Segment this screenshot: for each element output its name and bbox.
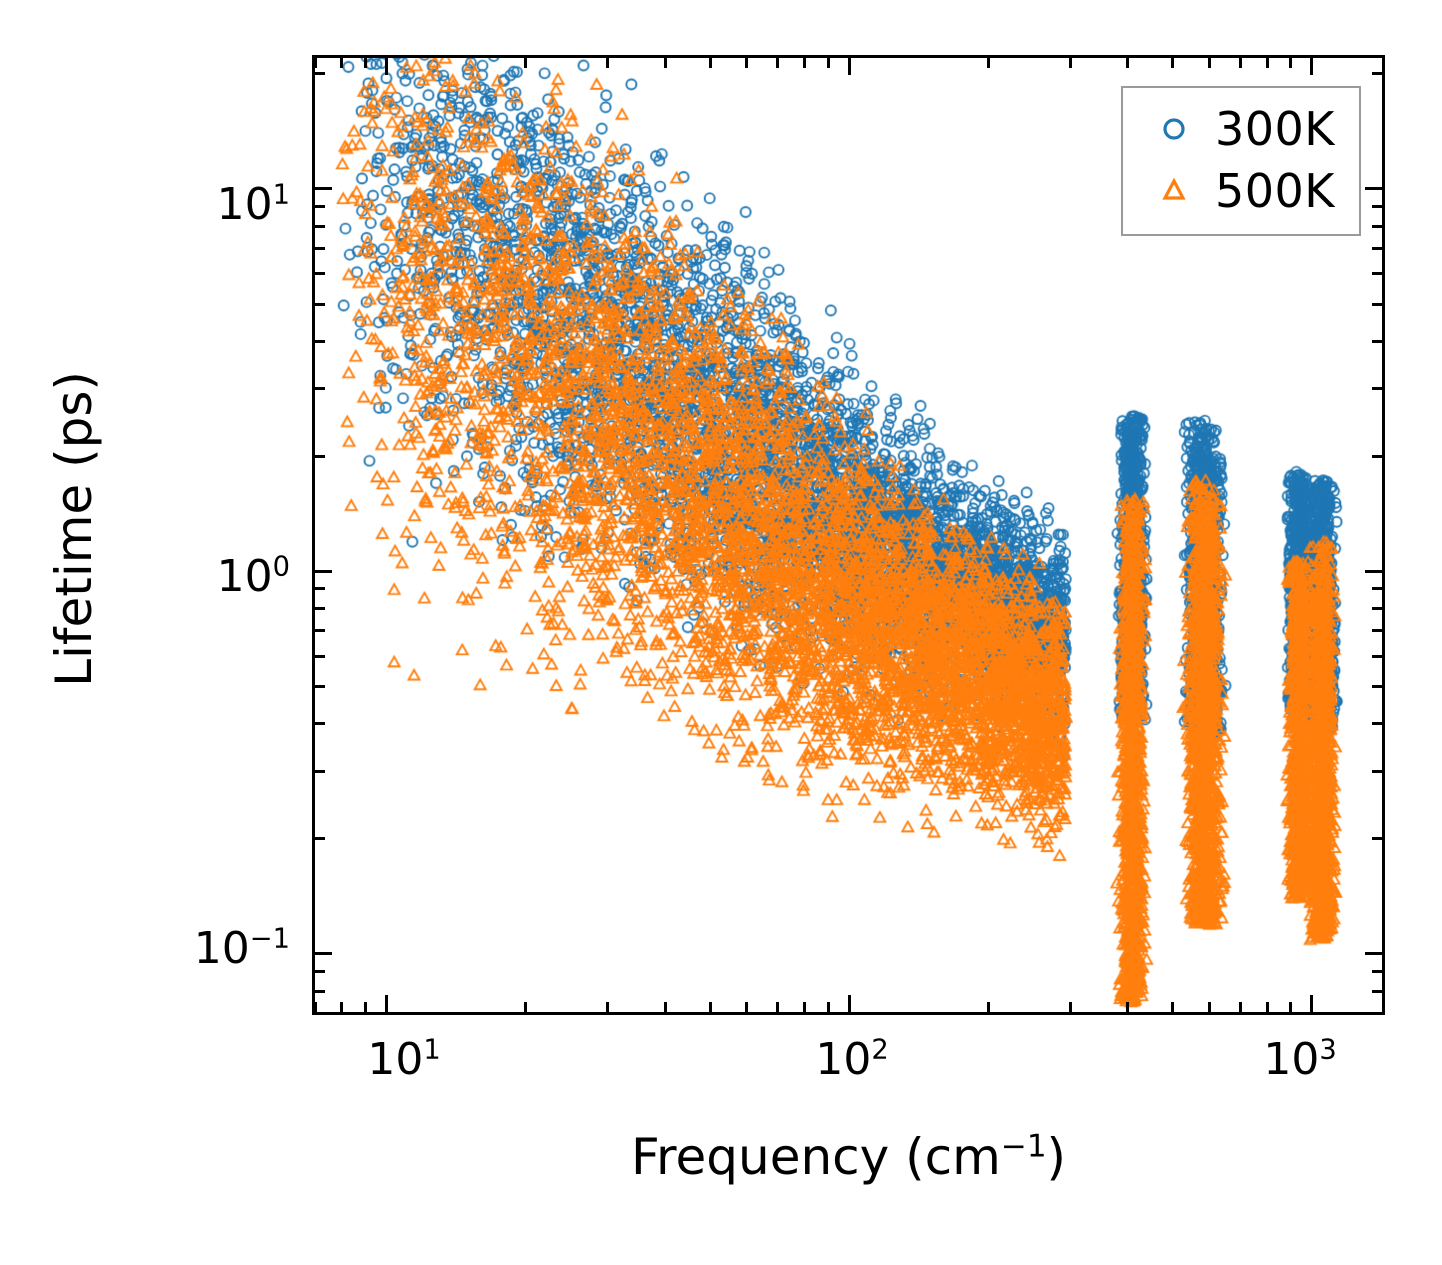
y-axis-minor-tick-right — [1372, 685, 1382, 688]
x-axis-major-tick — [385, 995, 388, 1012]
x-axis-minor-tick — [1171, 1002, 1174, 1012]
y-axis-minor-tick — [315, 272, 325, 275]
legend-label-300k: 300K — [1211, 102, 1335, 156]
x-axis-minor-tick-top — [1208, 58, 1211, 68]
y-axis-minor-tick — [315, 607, 325, 610]
x-axis-minor-tick-top — [1239, 58, 1242, 68]
x-tick-label-10e2: 102 — [815, 1038, 888, 1082]
legend-label-500k: 500K — [1211, 164, 1335, 218]
y-axis-minor-tick-right — [1372, 303, 1382, 306]
x-axis-minor-tick — [709, 1002, 712, 1012]
y-axis-minor-tick — [315, 205, 325, 208]
x-tick-mantissa: 10 — [367, 1034, 423, 1085]
x-axis-minor-tick-top — [524, 58, 527, 68]
x-axis-minor-tick — [745, 1002, 748, 1012]
y-tick-mantissa: 10 — [194, 923, 250, 974]
x-tick-label-10e3: 103 — [1263, 1038, 1336, 1082]
legend-marker-triangle-icon — [1137, 174, 1211, 208]
legend[interactable]: 300K 500K — [1121, 86, 1361, 236]
x-axis-minor-tick-top — [1266, 58, 1269, 68]
y-axis-minor-tick-right — [1372, 837, 1382, 840]
y-tick-mantissa: 10 — [217, 551, 273, 602]
x-axis-major-tick-top — [848, 58, 851, 75]
y-axis-minor-tick — [315, 340, 325, 343]
figure: Lifetime (ps) Frequency (cm−1) 101 100 1… — [0, 0, 1442, 1265]
x-axis-title-exponent: −1 — [1001, 1128, 1047, 1164]
x-axis-minor-tick-top — [827, 58, 830, 68]
x-axis-title-tail: ) — [1047, 1128, 1067, 1186]
y-axis-major-tick-right — [1365, 187, 1382, 190]
y-tick-exponent: −1 — [250, 923, 290, 954]
x-axis-minor-tick-top — [1171, 58, 1174, 68]
y-axis-minor-tick-right — [1372, 72, 1382, 75]
x-axis-minor-tick — [1208, 1002, 1211, 1012]
x-tick-mantissa: 10 — [815, 1034, 871, 1085]
y-axis-minor-tick-right — [1372, 387, 1382, 390]
y-axis-major-tick-right — [1365, 952, 1382, 955]
y-axis-minor-tick — [315, 722, 325, 725]
y-axis-minor-tick — [315, 387, 325, 390]
x-axis-major-tick — [848, 995, 851, 1012]
y-axis-minor-tick — [315, 655, 325, 658]
x-axis-minor-tick-top — [709, 58, 712, 68]
y-tick-label-10e-1: 10−1 — [132, 927, 290, 971]
x-axis-minor-tick-top — [364, 58, 367, 68]
y-axis-minor-tick — [315, 685, 325, 688]
y-tick-exponent: 0 — [273, 551, 290, 582]
x-axis-minor-tick — [364, 1002, 367, 1012]
y-axis-minor-tick — [315, 837, 325, 840]
x-tick-mantissa: 10 — [1263, 1034, 1319, 1085]
y-axis-minor-tick — [315, 970, 325, 973]
y-axis-minor-tick-right — [1372, 1012, 1382, 1015]
x-axis-minor-tick-top — [987, 58, 990, 68]
x-axis-minor-tick-top — [340, 58, 343, 68]
x-axis-minor-tick — [827, 1002, 830, 1012]
x-axis-minor-tick — [524, 1002, 527, 1012]
x-axis-minor-tick-top — [1289, 58, 1292, 68]
y-axis-minor-tick — [315, 225, 325, 228]
y-tick-mantissa: 10 — [217, 179, 273, 230]
y-axis-minor-tick — [315, 72, 325, 75]
y-axis-major-tick — [315, 570, 332, 573]
y-axis-minor-tick-right — [1372, 629, 1382, 632]
y-axis-major-tick — [315, 952, 332, 955]
y-tick-exponent: 1 — [273, 179, 290, 210]
x-tick-exponent: 3 — [1319, 1034, 1336, 1065]
y-axis-minor-tick-right — [1372, 205, 1382, 208]
x-axis-minor-tick-top — [1126, 58, 1129, 68]
y-axis-minor-tick — [315, 455, 325, 458]
x-axis-minor-tick — [776, 1002, 779, 1012]
x-axis-minor-tick-top — [1069, 58, 1072, 68]
y-axis-minor-tick-right — [1372, 607, 1382, 610]
y-axis-minor-tick-right — [1372, 587, 1382, 590]
y-axis-minor-tick-right — [1372, 655, 1382, 658]
legend-marker-circle-icon — [1137, 112, 1211, 146]
x-axis-minor-tick — [340, 1002, 343, 1012]
x-axis-minor-tick — [1126, 1002, 1129, 1012]
y-axis-minor-tick — [315, 303, 325, 306]
legend-entry-500k[interactable]: 500K — [1137, 160, 1345, 222]
x-axis-minor-tick — [1069, 1002, 1072, 1012]
y-axis-minor-tick-right — [1372, 225, 1382, 228]
legend-entry-300k[interactable]: 300K — [1137, 98, 1345, 160]
y-axis-minor-tick — [315, 770, 325, 773]
x-axis-major-tick-top — [1310, 58, 1313, 75]
x-axis-minor-tick — [803, 1002, 806, 1012]
plot-area: 300K 500K — [312, 55, 1385, 1015]
y-axis-minor-tick — [315, 990, 325, 993]
x-tick-exponent: 2 — [871, 1034, 888, 1065]
y-axis-minor-tick-right — [1372, 247, 1382, 250]
x-axis-major-tick-top — [385, 58, 388, 75]
x-axis-minor-tick-top — [664, 58, 667, 68]
y-axis-minor-tick-right — [1372, 970, 1382, 973]
x-axis-minor-tick-top — [606, 58, 609, 68]
x-tick-exponent: 1 — [423, 1034, 440, 1065]
y-axis-minor-tick — [315, 629, 325, 632]
y-tick-label-10e0: 100 — [150, 555, 290, 599]
y-axis-minor-tick — [315, 587, 325, 590]
y-axis-minor-tick-right — [1372, 455, 1382, 458]
x-axis-minor-tick — [1266, 1002, 1269, 1012]
x-axis-minor-tick — [314, 1002, 317, 1012]
x-axis-title: Frequency (cm−1) — [312, 1128, 1385, 1186]
y-axis-minor-tick-right — [1372, 770, 1382, 773]
x-tick-label-10e1: 101 — [367, 1038, 440, 1082]
y-axis-minor-tick-right — [1372, 722, 1382, 725]
x-axis-minor-tick — [606, 1002, 609, 1012]
y-axis-major-tick-right — [1365, 570, 1382, 573]
y-axis-minor-tick-right — [1372, 990, 1382, 993]
y-axis-minor-tick-right — [1372, 272, 1382, 275]
y-axis-major-tick — [315, 187, 332, 190]
y-tick-label-10e1: 101 — [150, 183, 290, 227]
x-axis-minor-tick — [664, 1002, 667, 1012]
x-axis-major-tick — [1310, 995, 1313, 1012]
x-axis-minor-tick — [1239, 1002, 1242, 1012]
x-axis-minor-tick-top — [803, 58, 806, 68]
x-axis-minor-tick — [987, 1002, 990, 1012]
x-axis-minor-tick-top — [745, 58, 748, 68]
x-axis-title-base: Frequency (cm — [631, 1128, 1001, 1186]
y-axis-title: Lifetime (ps) — [45, 259, 103, 799]
x-axis-minor-tick-top — [314, 58, 317, 68]
y-axis-minor-tick-right — [1372, 340, 1382, 343]
x-axis-minor-tick — [1289, 1002, 1292, 1012]
y-axis-minor-tick — [315, 247, 325, 250]
x-axis-minor-tick-top — [776, 58, 779, 68]
y-axis-minor-tick — [315, 1012, 325, 1015]
